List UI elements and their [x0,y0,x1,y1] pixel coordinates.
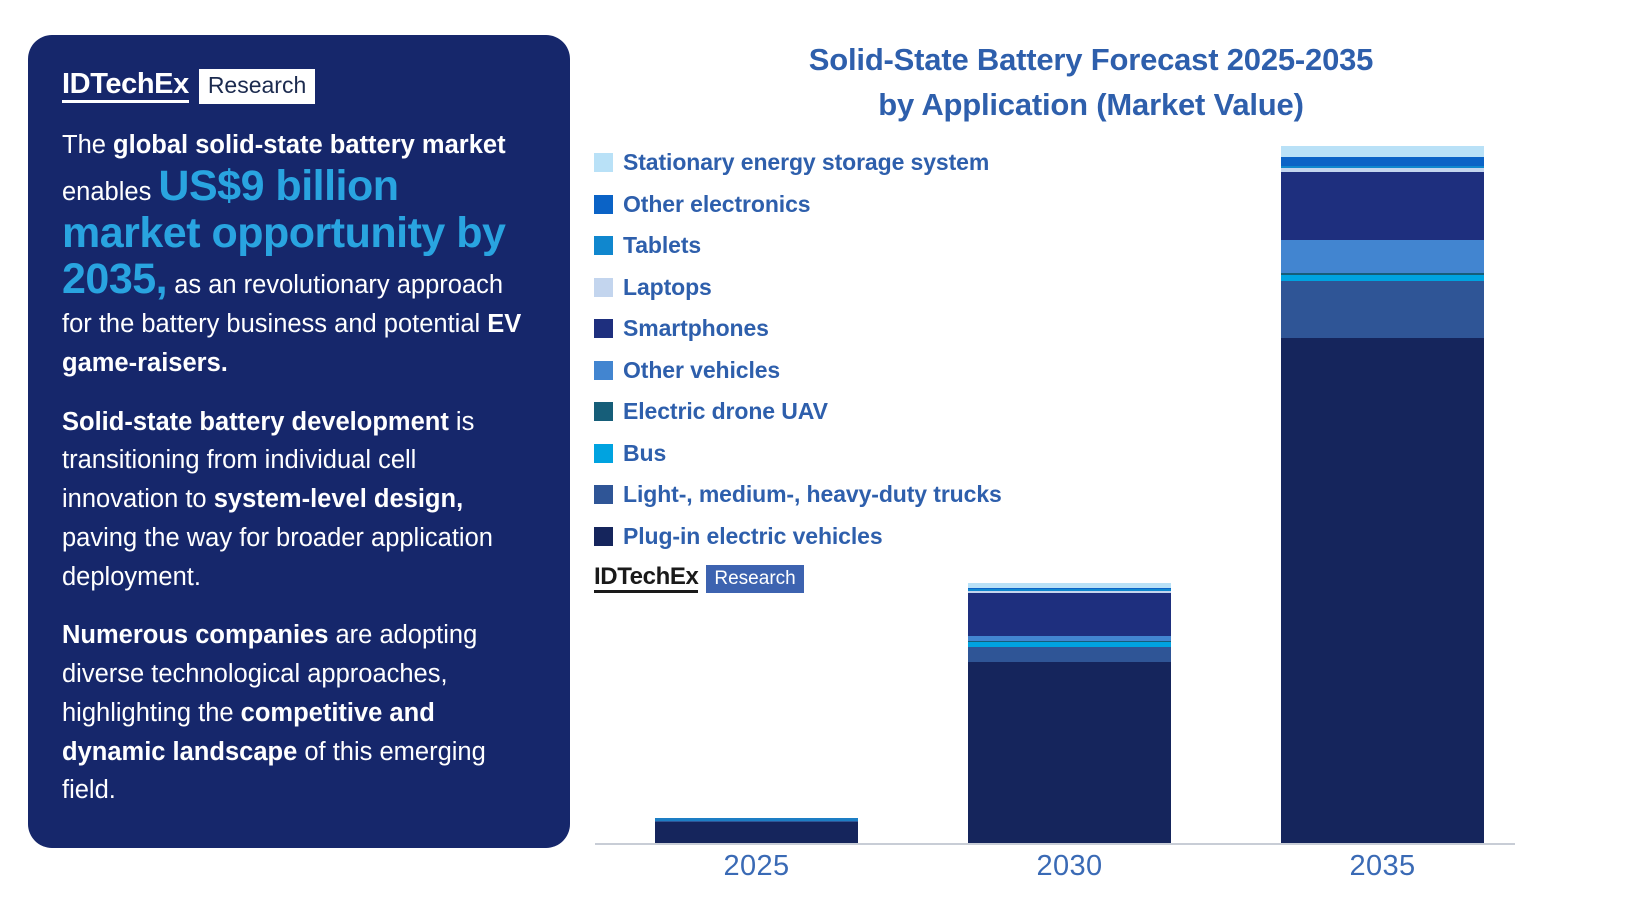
panel-text-bold: Solid-state battery development [62,408,456,436]
x-axis-label: 2030 [968,850,1171,883]
summary-panel: IDTechEx Research The global solid-state… [28,35,570,848]
panel-text: The [62,131,113,159]
bar-segment[interactable] [968,647,1171,662]
plot-area: 202520302035 [586,30,1616,910]
panel-text-bold: global solid-state battery market [113,131,506,159]
idtechex-wordmark: IDTechEx [62,70,189,103]
panel-paragraph: Solid-state battery development is trans… [62,403,536,597]
panel-body-text: The global solid-state battery market en… [62,126,536,810]
panel-text-bold: system-level design, [214,485,463,513]
bar-segment[interactable] [1281,338,1484,843]
x-axis-label: 2035 [1281,850,1484,883]
panel-logo: IDTechEx Research [62,69,536,104]
bar-segment[interactable] [968,593,1171,636]
bar-2030[interactable] [968,583,1171,843]
bar-segment[interactable] [1281,146,1484,157]
bar-segment[interactable] [655,822,858,843]
panel-paragraph: Numerous companies are adopting diverse … [62,616,536,810]
bar-segment[interactable] [1281,240,1484,273]
x-axis-label: 2025 [655,850,858,883]
bar-2025[interactable] [655,818,858,843]
panel-text: enables [62,178,158,206]
research-badge: Research [199,69,315,104]
panel-paragraph: The global solid-state battery market en… [62,126,536,383]
bar-segment[interactable] [968,662,1171,843]
panel-text: paving the way for broader application d… [62,524,493,591]
x-axis-line [595,843,1515,845]
bar-2035[interactable] [1281,146,1484,843]
chart-container: Solid-State Battery Forecast 2025-2035 b… [586,30,1616,910]
panel-text-bold: Numerous companies [62,621,336,649]
bar-segment[interactable] [1281,281,1484,338]
bar-segment[interactable] [1281,157,1484,166]
bar-segment[interactable] [1281,172,1484,240]
infographic-page: IDTechEx Research The global solid-state… [0,0,1631,918]
